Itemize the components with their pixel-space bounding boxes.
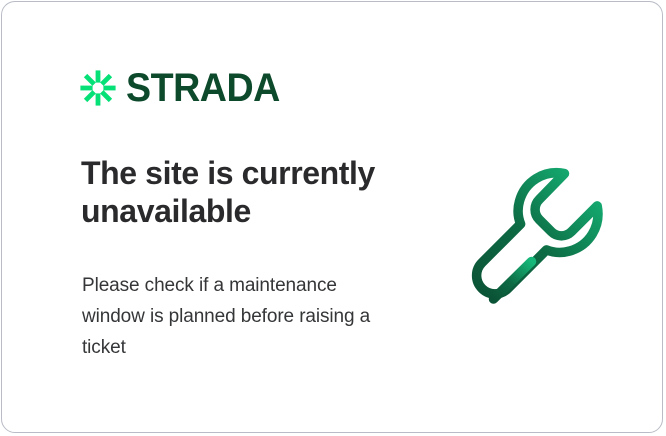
brand-wordmark: STRADA (126, 68, 280, 108)
page-title: The site is currently unavailable (81, 154, 411, 230)
brand-logo: STRADA (80, 68, 290, 108)
wrench-icon (460, 165, 608, 311)
strada-asterisk-icon (80, 70, 116, 106)
page-description: Please check if a maintenance window is … (82, 270, 392, 363)
error-page-card: STRADA The site is currently unavailable… (1, 1, 663, 433)
